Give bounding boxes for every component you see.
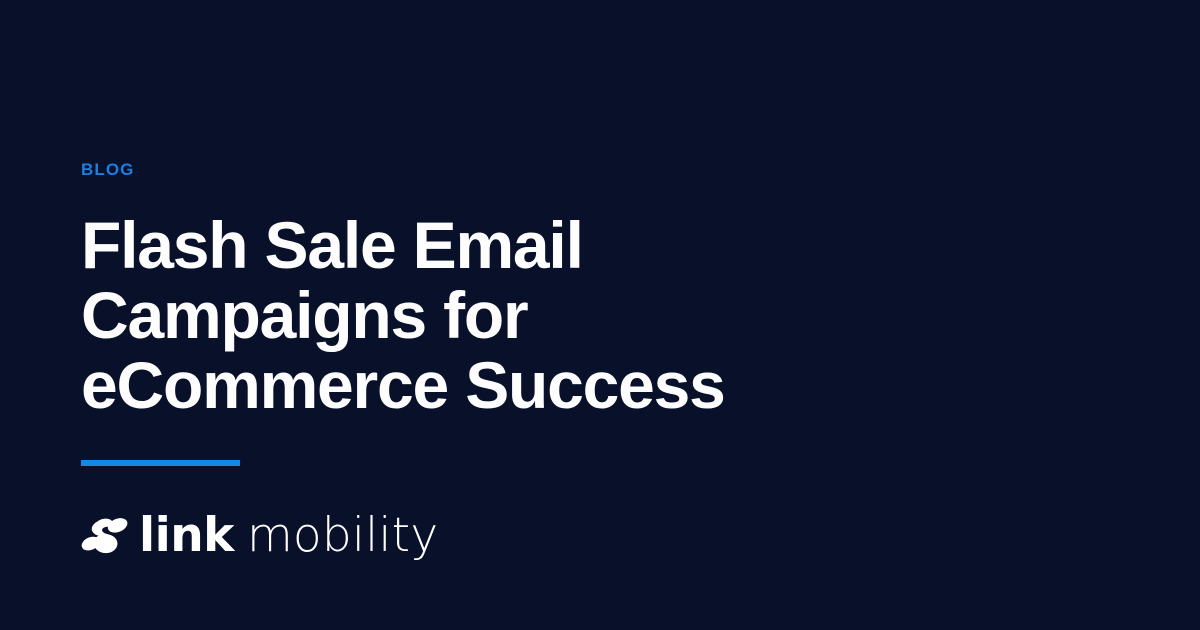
card-content: BLOG Flash Sale Email Campaigns for eCom… <box>81 160 901 559</box>
brand-logo-word-link: link <box>139 512 234 559</box>
page-title: Flash Sale Email Campaigns for eCommerce… <box>81 210 781 420</box>
link-mobility-blob-mark-icon <box>81 513 128 558</box>
page-title-line-1: Flash Sale Email <box>81 208 583 282</box>
brand-logo: link mobility <box>81 512 901 559</box>
brand-logo-wordmark: link mobility <box>139 512 438 559</box>
accent-divider <box>81 460 240 466</box>
divider-wrap <box>81 460 901 466</box>
page-title-line-3: eCommerce Success <box>81 348 725 422</box>
category-eyebrow: BLOG <box>81 160 901 180</box>
page-title-line-2: Campaigns for <box>81 278 527 352</box>
brand-logo-word-mobility: mobility <box>247 512 438 559</box>
blog-share-card: BLOG Flash Sale Email Campaigns for eCom… <box>0 0 1200 630</box>
